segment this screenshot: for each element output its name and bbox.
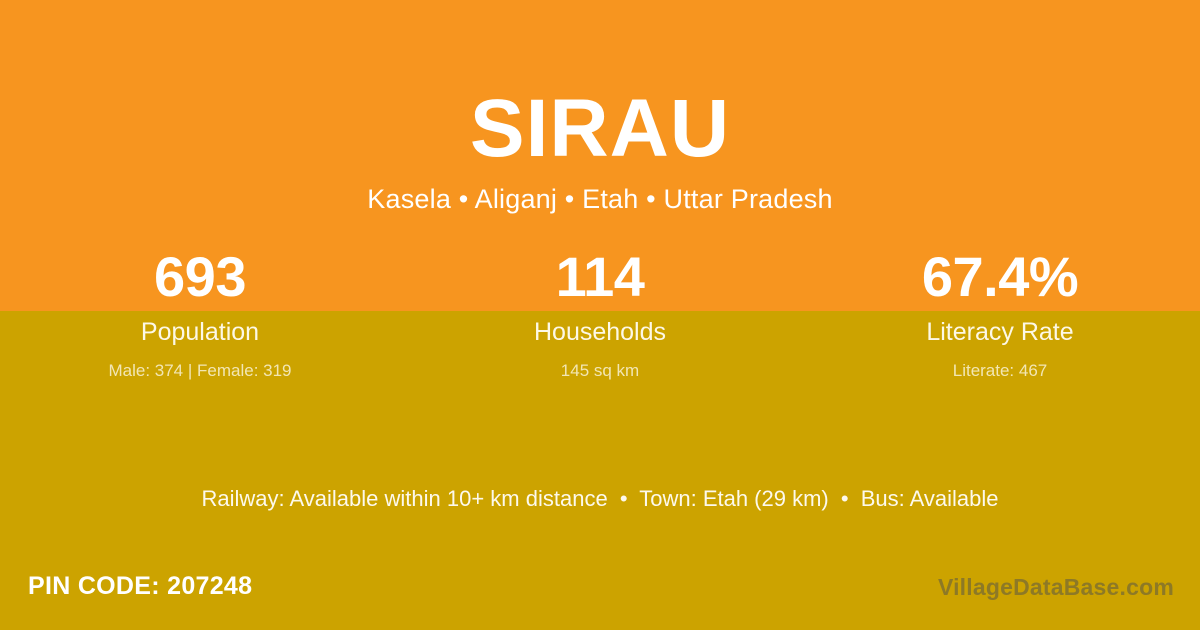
stat-literacy-rate-sub: Literate: 467: [800, 361, 1200, 381]
pin-code-label: PIN CODE: 207248: [28, 572, 252, 601]
stat-literacy-rate-value: 67.4%: [800, 248, 1200, 307]
stat-population-sub: Male: 374 | Female: 319: [0, 361, 400, 381]
infra-bus: Bus: Available: [861, 486, 999, 511]
village-info-card: SIRAU Kasela • Aliganj • Etah • Uttar Pr…: [0, 0, 1200, 630]
card-footer: PIN CODE: 207248 VillageDataBase.com: [0, 560, 1200, 630]
stat-households: 114 Households 145 sq km: [400, 248, 800, 381]
stat-population-value: 693: [0, 248, 400, 307]
page-title: SIRAU: [0, 88, 1200, 170]
site-brand-watermark: VillageDataBase.com: [938, 574, 1174, 601]
infra-railway: Railway: Available within 10+ km distanc…: [201, 486, 607, 511]
stat-literacy-rate: 67.4% Literacy Rate Literate: 467: [800, 248, 1200, 381]
stat-households-sub: 145 sq km: [400, 361, 800, 381]
stat-population-label: Population: [0, 317, 400, 347]
infra-separator-2: •: [835, 486, 855, 511]
stat-literacy-rate-label: Literacy Rate: [800, 317, 1200, 347]
stat-households-value: 114: [400, 248, 800, 307]
breadcrumb: Kasela • Aliganj • Etah • Uttar Pradesh: [0, 182, 1200, 217]
stats-row: 693 Population Male: 374 | Female: 319 1…: [0, 248, 1200, 381]
stat-households-label: Households: [400, 317, 800, 347]
infra-separator-1: •: [614, 486, 634, 511]
infra-town: Town: Etah (29 km): [639, 486, 829, 511]
infrastructure-summary: Railway: Available within 10+ km distanc…: [0, 485, 1200, 514]
stat-population: 693 Population Male: 374 | Female: 319: [0, 248, 400, 381]
